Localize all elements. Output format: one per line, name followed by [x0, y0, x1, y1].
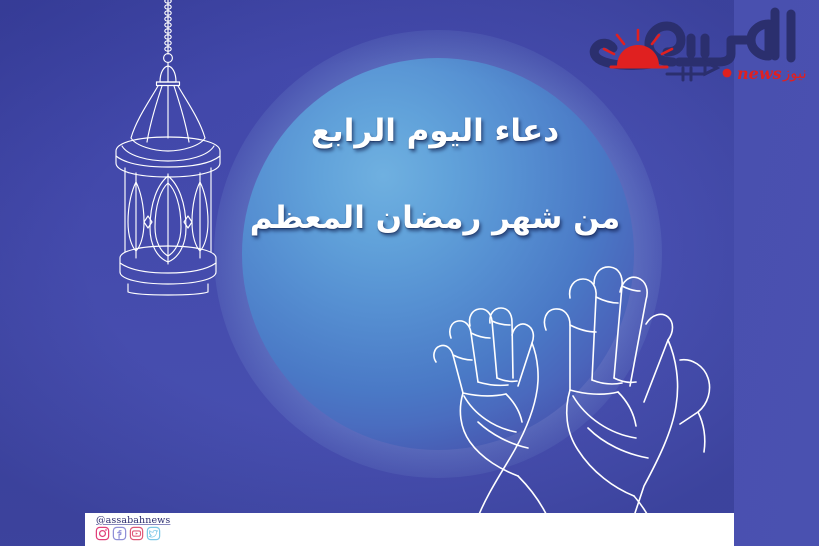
praying-hands-icon	[418, 262, 734, 546]
poster-title: دعاء اليوم الرابع من شهر رمضان المعظم	[200, 115, 670, 234]
logo-news-latin: news	[737, 64, 782, 83]
title-line-2: من شهر رمضان المعظم	[200, 202, 670, 235]
social-handle[interactable]: @assabahnews	[96, 515, 170, 526]
title-line-1: دعاء اليوم الرابع	[200, 115, 670, 148]
logo-news-arabic: نيوز	[782, 64, 807, 82]
facebook-icon[interactable]	[112, 526, 127, 541]
social-icon-row	[95, 526, 161, 541]
youtube-icon[interactable]	[129, 526, 144, 541]
assabah-news-logo[interactable]: news نيوز	[555, 4, 813, 90]
social-footer: @assabahnews	[85, 513, 734, 546]
instagram-icon[interactable]	[95, 526, 110, 541]
logo-bullet-dot	[723, 69, 732, 78]
poster-stage: @assabahnews	[0, 0, 819, 546]
twitter-icon[interactable]	[146, 526, 161, 541]
